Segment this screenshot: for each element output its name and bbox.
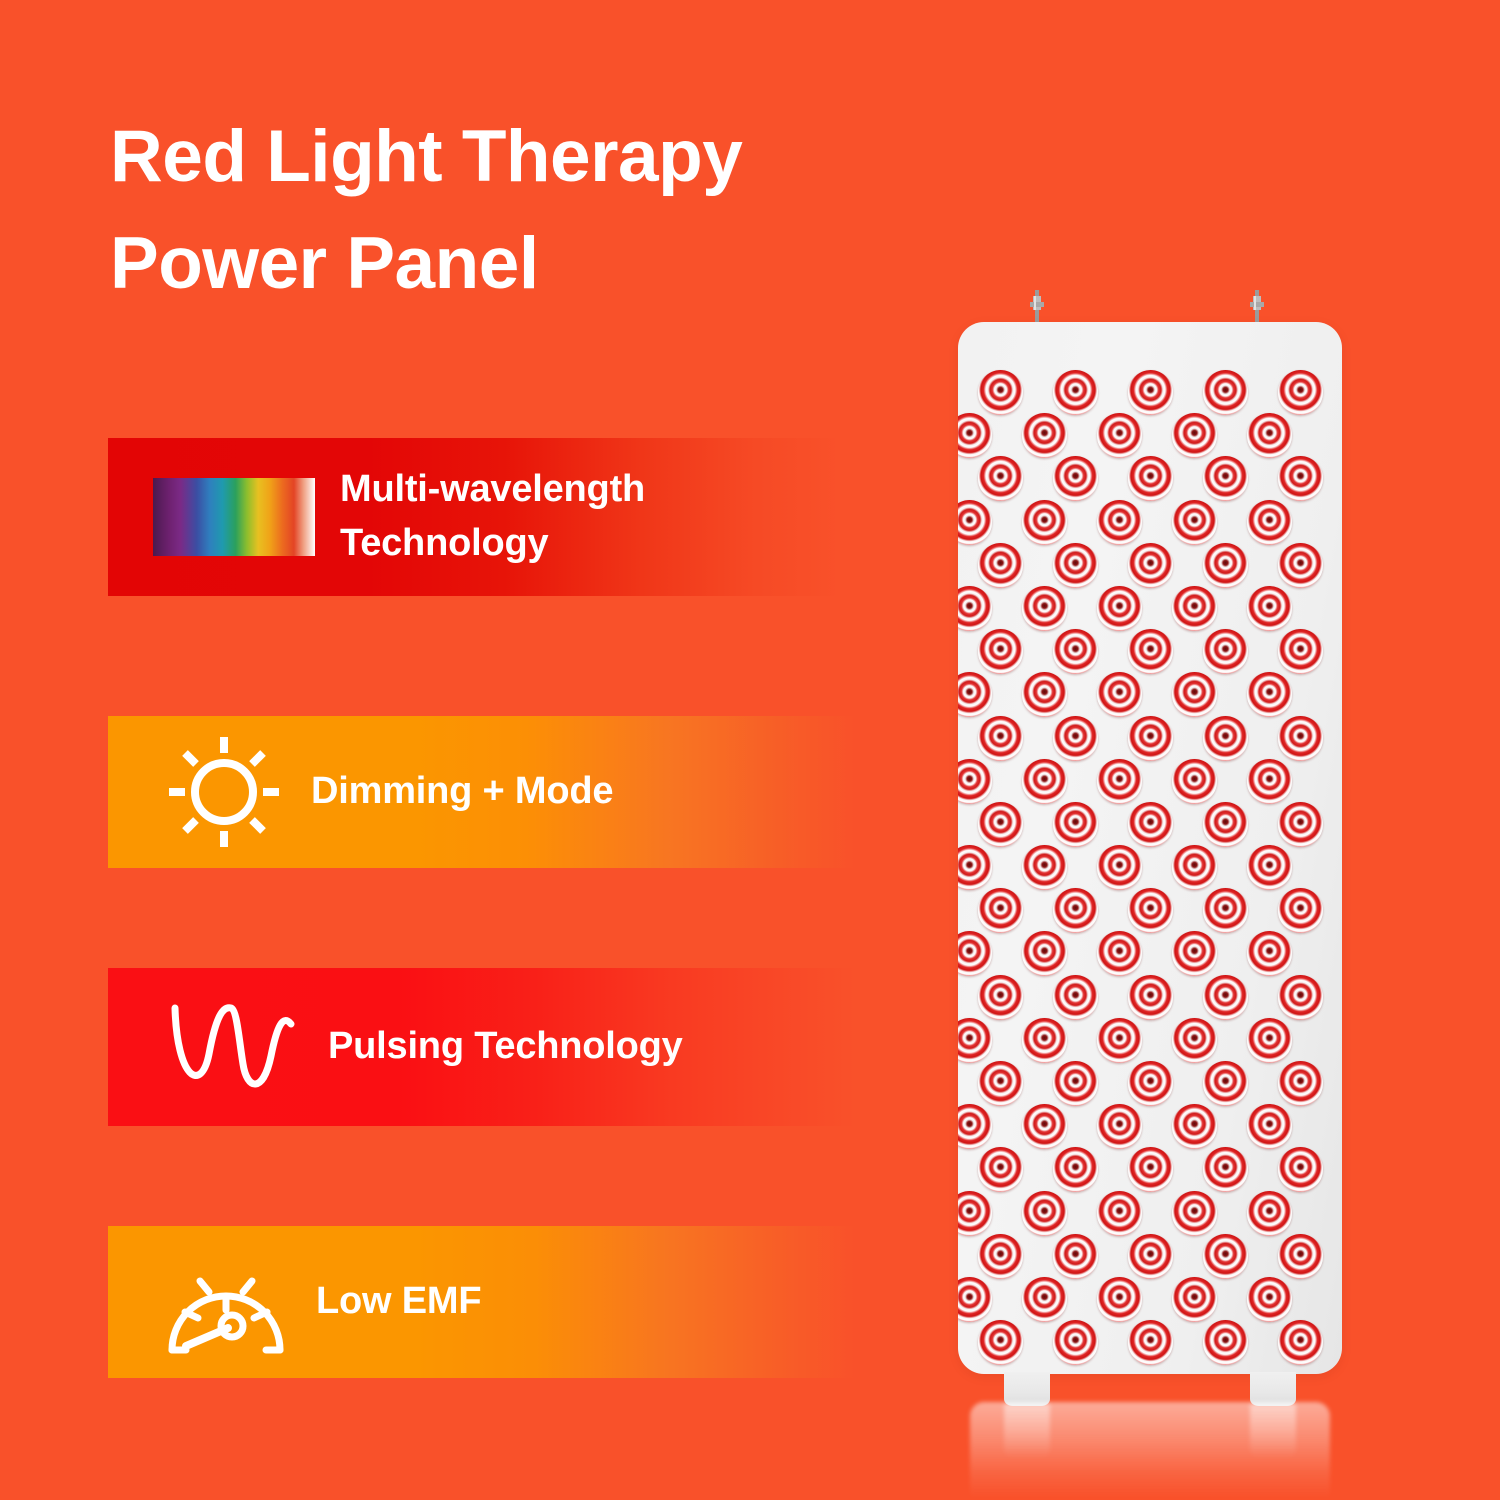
led-lens bbox=[1203, 370, 1248, 415]
led-lens bbox=[1247, 759, 1292, 804]
led-lens bbox=[958, 672, 992, 717]
led-lens bbox=[958, 1104, 992, 1149]
led-lens bbox=[1053, 1147, 1098, 1192]
led-row bbox=[958, 759, 1311, 802]
led-lens bbox=[1203, 543, 1248, 588]
led-lens bbox=[1278, 888, 1323, 933]
led-lens bbox=[1172, 413, 1217, 458]
led-lens bbox=[1172, 759, 1217, 804]
led-lens bbox=[1128, 975, 1173, 1020]
led-lens bbox=[1053, 1061, 1098, 1106]
led-lens bbox=[1097, 1018, 1142, 1063]
led-lens bbox=[1278, 543, 1323, 588]
feature-bar-pulsing-technology: Pulsing Technology bbox=[108, 968, 870, 1126]
led-lens bbox=[1022, 1104, 1067, 1149]
infographic-canvas: Red Light Therapy Power Panel Multi-wave… bbox=[0, 0, 1500, 1500]
led-lens bbox=[1203, 1147, 1248, 1192]
spectrum-icon bbox=[108, 478, 334, 556]
led-row bbox=[958, 672, 1311, 715]
panel-housing bbox=[958, 322, 1342, 1374]
led-lens bbox=[1247, 931, 1292, 976]
led-lens bbox=[1247, 586, 1292, 631]
led-lens bbox=[1053, 543, 1098, 588]
led-row bbox=[958, 1061, 1342, 1104]
led-lens bbox=[1247, 413, 1292, 458]
led-lens bbox=[1128, 629, 1173, 674]
led-lens bbox=[1053, 456, 1098, 501]
led-row bbox=[958, 1234, 1342, 1277]
led-lens bbox=[1278, 1320, 1323, 1365]
led-row bbox=[958, 586, 1311, 629]
led-row bbox=[958, 1191, 1311, 1234]
led-lens bbox=[1053, 802, 1098, 847]
led-lens bbox=[978, 975, 1023, 1020]
led-lens bbox=[978, 802, 1023, 847]
led-row bbox=[958, 845, 1311, 888]
led-lens bbox=[1172, 1277, 1217, 1322]
led-lens bbox=[1172, 931, 1217, 976]
led-lens bbox=[1172, 586, 1217, 631]
led-lens bbox=[958, 759, 992, 804]
led-lens bbox=[978, 716, 1023, 761]
led-lens bbox=[958, 931, 992, 976]
led-lens bbox=[1022, 1191, 1067, 1236]
led-lens bbox=[1022, 500, 1067, 545]
led-lens bbox=[978, 1061, 1023, 1106]
pulse-wave-icon bbox=[108, 994, 328, 1100]
led-lens bbox=[1172, 1191, 1217, 1236]
led-lens bbox=[1247, 845, 1292, 890]
led-lens bbox=[1128, 888, 1173, 933]
led-row bbox=[958, 370, 1342, 413]
feature-label-multi-wavelength: Multi-wavelength Technology bbox=[340, 463, 645, 571]
led-lens bbox=[1203, 888, 1248, 933]
led-grid bbox=[958, 370, 1342, 1363]
led-lens bbox=[1128, 1320, 1173, 1365]
led-row bbox=[958, 500, 1311, 543]
led-lens bbox=[1278, 629, 1323, 674]
led-lens bbox=[1203, 975, 1248, 1020]
feature-bar-dimming-mode: Dimming + Mode bbox=[108, 716, 870, 868]
led-lens bbox=[978, 1234, 1023, 1279]
red-light-therapy-panel bbox=[952, 290, 1348, 1470]
headline-line-2: Power Panel bbox=[110, 211, 970, 318]
led-lens bbox=[1022, 931, 1067, 976]
led-lens bbox=[1203, 1061, 1248, 1106]
led-lens bbox=[1278, 370, 1323, 415]
led-lens bbox=[1172, 845, 1217, 890]
led-lens bbox=[978, 888, 1023, 933]
led-row bbox=[958, 1277, 1311, 1320]
led-lens bbox=[1022, 759, 1067, 804]
led-lens bbox=[1022, 1277, 1067, 1322]
led-lens bbox=[958, 413, 992, 458]
led-row bbox=[958, 413, 1311, 456]
led-lens bbox=[1128, 370, 1173, 415]
led-lens bbox=[1097, 845, 1142, 890]
led-lens bbox=[958, 1277, 992, 1322]
led-lens bbox=[1022, 1018, 1067, 1063]
led-lens bbox=[1278, 1061, 1323, 1106]
led-lens bbox=[1278, 456, 1323, 501]
led-row bbox=[958, 629, 1342, 672]
led-lens bbox=[1097, 759, 1142, 804]
led-lens bbox=[1053, 716, 1098, 761]
led-lens bbox=[978, 629, 1023, 674]
led-lens bbox=[1278, 1147, 1323, 1192]
gauge-icon bbox=[108, 1246, 316, 1358]
led-lens bbox=[958, 586, 992, 631]
led-lens bbox=[1097, 586, 1142, 631]
led-lens bbox=[1203, 802, 1248, 847]
led-row bbox=[958, 802, 1342, 845]
led-lens bbox=[1128, 456, 1173, 501]
led-lens bbox=[1022, 845, 1067, 890]
led-row bbox=[958, 1320, 1342, 1363]
sun-brightness-icon bbox=[108, 733, 311, 851]
led-lens bbox=[1203, 1234, 1248, 1279]
panel-foot-left bbox=[1004, 1372, 1050, 1406]
led-lens bbox=[978, 543, 1023, 588]
led-lens bbox=[1172, 500, 1217, 545]
led-row bbox=[958, 543, 1342, 586]
headline-line-1: Red Light Therapy bbox=[110, 104, 970, 211]
led-lens bbox=[1097, 1277, 1142, 1322]
led-row bbox=[958, 1018, 1311, 1061]
led-lens bbox=[1053, 888, 1098, 933]
led-lens bbox=[1128, 543, 1173, 588]
led-lens bbox=[1022, 586, 1067, 631]
led-lens bbox=[1278, 802, 1323, 847]
led-lens bbox=[1172, 1018, 1217, 1063]
led-lens bbox=[1247, 1191, 1292, 1236]
led-lens bbox=[1172, 1104, 1217, 1149]
led-lens bbox=[1128, 1147, 1173, 1192]
led-lens bbox=[958, 500, 992, 545]
led-lens bbox=[1128, 802, 1173, 847]
led-lens bbox=[1053, 975, 1098, 1020]
led-row bbox=[958, 1104, 1311, 1147]
led-lens bbox=[978, 370, 1023, 415]
led-lens bbox=[1097, 931, 1142, 976]
led-lens bbox=[1128, 1061, 1173, 1106]
led-lens bbox=[978, 456, 1023, 501]
led-row bbox=[958, 888, 1342, 931]
led-lens bbox=[1203, 716, 1248, 761]
panel-foot-right bbox=[1250, 1372, 1296, 1406]
led-lens bbox=[1278, 716, 1323, 761]
led-row bbox=[958, 975, 1342, 1018]
led-lens bbox=[1053, 1320, 1098, 1365]
led-lens bbox=[1097, 1104, 1142, 1149]
feature-bar-multi-wavelength: Multi-wavelength Technology bbox=[108, 438, 870, 596]
led-lens bbox=[978, 1147, 1023, 1192]
led-lens bbox=[978, 1320, 1023, 1365]
led-lens bbox=[1247, 1104, 1292, 1149]
led-lens bbox=[1203, 1320, 1248, 1365]
led-row bbox=[958, 716, 1342, 759]
led-lens bbox=[1128, 1234, 1173, 1279]
led-lens bbox=[1097, 672, 1142, 717]
led-lens bbox=[958, 1018, 992, 1063]
led-lens bbox=[1172, 672, 1217, 717]
led-lens bbox=[1022, 672, 1067, 717]
led-lens bbox=[1128, 716, 1173, 761]
led-lens bbox=[1247, 1018, 1292, 1063]
feature-bar-low-emf: Low EMF bbox=[108, 1226, 870, 1378]
led-lens bbox=[1203, 629, 1248, 674]
led-lens bbox=[1097, 1191, 1142, 1236]
led-lens bbox=[1053, 370, 1098, 415]
feature-label-pulsing-technology: Pulsing Technology bbox=[328, 1020, 683, 1074]
led-lens bbox=[1053, 1234, 1098, 1279]
led-lens bbox=[1278, 975, 1323, 1020]
led-lens bbox=[1203, 456, 1248, 501]
led-lens bbox=[1097, 500, 1142, 545]
led-row bbox=[958, 1147, 1342, 1190]
led-lens bbox=[1247, 500, 1292, 545]
led-lens bbox=[958, 845, 992, 890]
panel-reflection bbox=[970, 1402, 1330, 1498]
led-lens bbox=[1247, 1277, 1292, 1322]
led-lens bbox=[1097, 413, 1142, 458]
led-lens bbox=[1247, 672, 1292, 717]
led-lens bbox=[1053, 629, 1098, 674]
led-row bbox=[958, 456, 1342, 499]
feature-label-dimming-mode: Dimming + Mode bbox=[311, 765, 613, 819]
feature-label-low-emf: Low EMF bbox=[316, 1275, 481, 1329]
page-title: Red Light Therapy Power Panel bbox=[110, 104, 970, 317]
led-lens bbox=[1278, 1234, 1323, 1279]
led-lens bbox=[958, 1191, 992, 1236]
led-lens bbox=[1022, 413, 1067, 458]
led-row bbox=[958, 931, 1311, 974]
